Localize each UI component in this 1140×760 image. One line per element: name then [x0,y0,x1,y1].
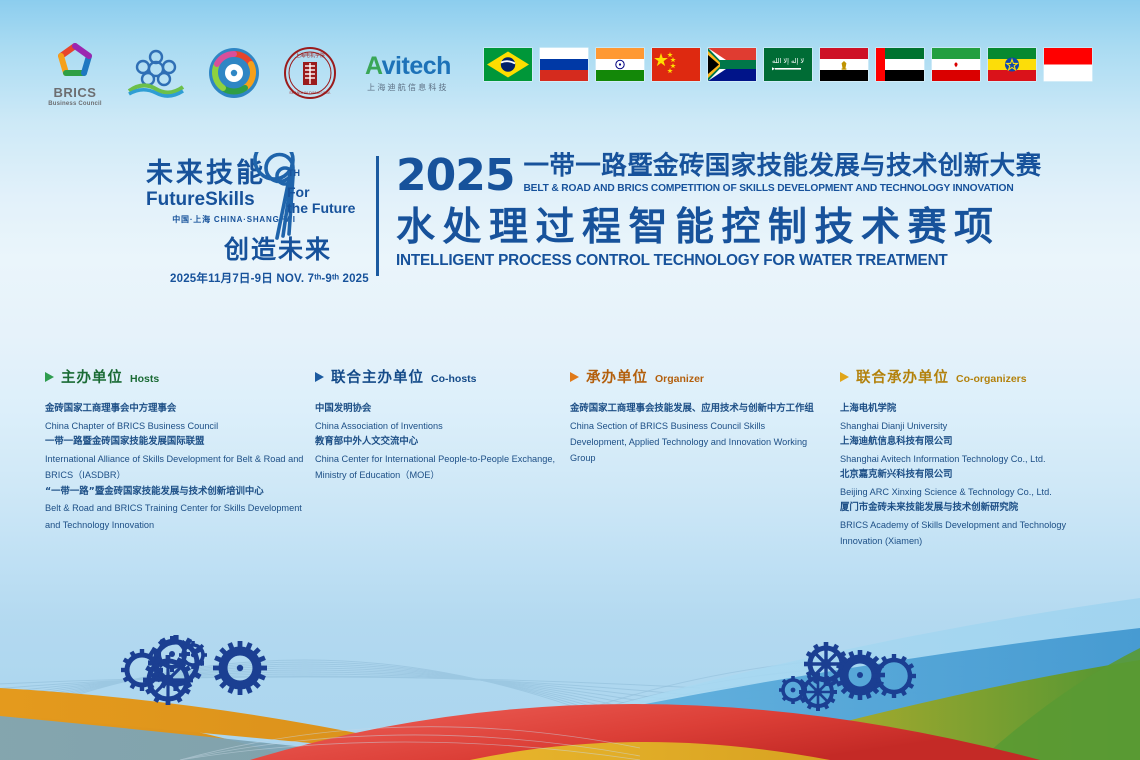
organizer-heading-organizer: 承办单位Organizer [570,366,820,387]
iasdbr-emblem-icon [127,47,185,99]
brics-skills-emblem-icon [207,46,261,100]
flag-indonesia [1044,48,1092,81]
organizer-entry-cn: 中国发明协会 [315,401,560,418]
competition-name-cn: 一带一路暨金砖国家技能发展与技术创新大赛 [523,154,1041,180]
organizer-entry-cn: 北京嘉克新兴科技有限公司 [840,467,1100,484]
organizer-entry-en: China Section of BRICS Business Council … [570,418,820,467]
triangle-bullet-icon [45,372,54,382]
avitech-subtitle: 上海迪航信息科技 [367,82,449,93]
create-future-cn: 创造未来 [224,230,332,266]
organizer-entry-en: Belt & Road and BRICS Training Center fo… [45,500,310,533]
event-subject-en: INTELLIGENT PROCESS CONTROL TECHNOLOGY F… [396,252,1016,270]
organizer-entry-en: Shanghai Avitech Information Technology … [840,451,1100,467]
iasdbr-emblem-logo [127,47,185,99]
organizer-entry-cn: 一带一路暨金砖国家技能发展国际联盟 [45,434,310,451]
title-row-1: 2025 一带一路暨金砖国家技能发展与技术创新大赛 BELT & ROAD AN… [396,154,1016,196]
triangle-bullet-icon [570,372,579,382]
svg-text:SHANGHAI DIANJI UNIV.: SHANGHAI DIANJI UNIV. [289,91,330,95]
flag-brazil [484,48,532,81]
flag-saudi-arabia: لا إله إلا الله [764,48,812,81]
flag-iran [932,48,980,81]
organizer-entry-en: China Center for International People-to… [315,451,560,484]
organizer-title-cn: 联合承办单位 [856,366,949,387]
triangle-bullet-icon [840,372,849,382]
organizer-entry-en: Beijing ARC Xinxing Science & Technology… [840,484,1100,500]
triangle-bullet-icon [315,372,324,382]
organizer-title-cn: 承办单位 [586,366,648,387]
event-year: 2025 [396,156,514,196]
brics-star-icon [45,40,105,84]
avitech-letters-rest: vitech [382,52,451,80]
organizer-title-cn: 主办单位 [61,366,123,387]
brics-business-council-logo: BRICS Business Council [45,40,105,107]
organizer-entry-cn: 厦门市金砖未来技能发展与技术创新研究院 [840,500,1100,517]
flag-egypt [820,48,868,81]
organizer-column-organizer: 承办单位Organizer金砖国家工商理事会技能发展、应用技术与创新中方工作组C… [570,366,820,467]
flag-south-africa [708,48,756,81]
title-row-2: 水处理过程智能控制技术赛项 INTELLIGENT PROCESS CONTRO… [396,208,1016,270]
organizer-heading-hosts: 主办单位Hosts [45,366,310,387]
avitech-wordmark: Avitech [365,54,451,79]
main-title: 2025 一带一路暨金砖国家技能发展与技术创新大赛 BELT & ROAD AN… [396,154,1016,270]
organizer-entry-en: BRICS Academy of Skills Development and … [840,517,1100,550]
flag-russia [540,48,588,81]
organizer-entry-cn: 金砖国家工商理事会中方理事会 [45,401,310,418]
organizer-entry-en: International Alliance of Skills Develop… [45,451,310,484]
brics-logo-sub: Business Council [48,101,102,107]
futureskills-logo: 未来技能 FutureSkills 中国·上海 CHINA·SHANGHAI T… [146,160,371,225]
shanghai-dianji-university-logo: 上海电机学院 SHANGHAI DIANJI UNIV. [283,46,337,100]
flag-row: لا إله إلا الله [484,48,1092,81]
organizer-entry-cn: “一带一路”暨金砖国家技能发展与技术创新培训中心 [45,484,310,501]
event-subject-cn: 水处理过程智能控制技术赛项 [396,208,1016,249]
university-seal-icon: 上海电机学院 SHANGHAI DIANJI UNIV. [283,46,337,100]
organizer-column-co-hosts: 联合主办单位Co-hosts中国发明协会China Association of… [315,366,560,484]
partner-logo-strip: BRICS Business Council [45,42,451,104]
avitech-logo: Avitech 上海迪航信息科技 [365,54,451,93]
poster-root: BRICS Business Council [0,0,1140,760]
organizer-title-en: Co-organizers [956,373,1027,385]
ordinal-suffix: TH [288,168,300,178]
organizer-title-en: Co-hosts [431,373,477,385]
organizer-entry-en: China Association of Inventions [315,418,560,434]
organizer-entry-cn: 教育部中外人文交流中心 [315,434,560,451]
brics-skills-emblem-logo [207,46,261,100]
event-dates: 2025年11月7日-9日 NOV. 7ᵗʰ-9ᵗʰ 2025 [170,270,369,286]
flag-ethiopia [988,48,1036,81]
organizer-title-en: Organizer [655,373,704,385]
organizer-entry-cn: 金砖国家工商理事会技能发展、应用技术与创新中方工作组 [570,401,820,418]
flag-china [652,48,700,81]
organizer-entry-cn: 上海电机学院 [840,401,1100,418]
brics-logo-word: BRICS [54,86,97,99]
title-block: 未来技能 FutureSkills 中国·上海 CHINA·SHANGHAI T… [0,148,1140,288]
organizer-heading-co-organizers: 联合承办单位Co-organizers [840,366,1100,387]
competition-name-en: BELT & ROAD AND BRICS COMPETITION OF SKI… [523,183,1041,195]
organizer-entry-en: China Chapter of BRICS Business Council [45,418,310,434]
organizer-title-cn: 联合主办单位 [331,366,424,387]
organizer-entry-cn: 上海迪航信息科技有限公司 [840,434,1100,451]
for-the-future-text: For the Future [287,184,355,216]
flag-uae [876,48,924,81]
title-divider [376,156,379,276]
svg-text:لا إله إلا الله: لا إله إلا الله [772,57,804,65]
organizer-heading-co-hosts: 联合主办单位Co-hosts [315,366,560,387]
organizer-column-co-organizers: 联合承办单位Co-organizers上海电机学院Shanghai Dianji… [840,366,1100,550]
organizer-entry-en: Shanghai Dianji University [840,418,1100,434]
organizer-column-hosts: 主办单位Hosts金砖国家工商理事会中方理事会China Chapter of … [45,366,310,533]
organizer-title-en: Hosts [130,373,159,385]
svg-text:上海电机学院: 上海电机学院 [295,52,325,59]
flag-india [596,48,644,81]
avitech-letter-a: A [365,52,382,80]
